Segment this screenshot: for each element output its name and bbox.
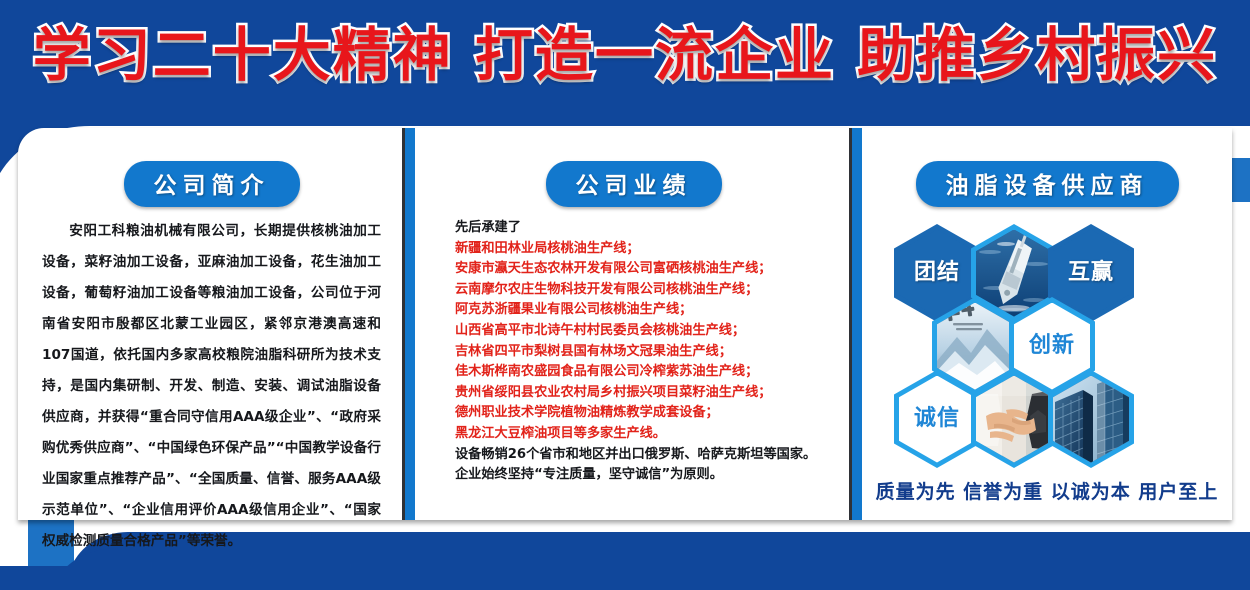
performance-project-line: 佳木斯桦南农盛园食品有限公司冷榨紫苏油生产线；	[455, 362, 832, 383]
skyscraper-photo	[1053, 376, 1129, 463]
performance-project-line: 山西省高平市北诗午村村民委员会核桃油生产线；	[455, 321, 832, 342]
header-banner: 学习二十大精神 打造一流企业 助推乡村振兴	[0, 0, 1250, 110]
aircraft-carrier-photo	[976, 230, 1052, 317]
performance-project-line: 新疆和田林业局核桃油生产线；	[455, 239, 832, 260]
performance-project-line: 贵州省绥阳县农业农村局乡村振兴项目菜籽油生产线；	[455, 383, 832, 404]
hexagon-label: 互赢	[1068, 262, 1114, 284]
hexagon-label: 团结	[914, 262, 960, 284]
hexagon-label: 创新	[1029, 335, 1075, 357]
panel-supplier: 油脂设备供应商 团结 互赢	[862, 128, 1232, 520]
badge-supplier: 油脂设备供应商	[916, 161, 1179, 207]
badge-wrap-profile: 公司简介	[40, 128, 383, 216]
badge-company-profile: 公司简介	[124, 161, 300, 207]
panel-company-profile: 公司简介 安阳工科粮油机械有限公司，长期提供核桃油加工设备，菜籽油加工设备，亚麻…	[18, 128, 405, 520]
badge-wrap-performance: 公司业绩	[435, 128, 832, 216]
performance-lead: 先后承建了	[455, 218, 832, 239]
hexagon-inner: 创新	[1014, 303, 1090, 390]
poster-main-title: 学习二十大精神 打造一流企业 助推乡村振兴	[33, 26, 1217, 84]
handshake-photo	[976, 376, 1052, 463]
panel-divider-left	[405, 128, 415, 520]
hexagon-inner	[976, 230, 1052, 317]
hexagon-inner	[1053, 376, 1129, 463]
hexagon-inner	[976, 376, 1052, 463]
success-mountain-photo	[937, 303, 1013, 390]
content-card: 公司简介 安阳工科粮油机械有限公司，长期提供核桃油加工设备，菜籽油加工设备，亚麻…	[18, 128, 1232, 520]
performance-project-line: 阿克苏浙疆果业有限公司核桃油生产线；	[455, 300, 832, 321]
performance-project-line: 黑龙江大豆榨油项目等多家生产线。	[455, 424, 832, 445]
performance-project-line: 安康市瀛天生态农林开发有限公司富硒核桃油生产线；	[455, 259, 832, 280]
hexagon-inner	[937, 303, 1013, 390]
performance-project-line: 云南摩尔农庄生物科技开发有限公司核桃油生产线；	[455, 280, 832, 301]
hexagon-label: 诚信	[914, 408, 960, 430]
performance-project-lines: 新疆和田林业局核桃油生产线；安康市瀛天生态农林开发有限公司富硒核桃油生产线；云南…	[455, 239, 832, 445]
performance-project-line: 德州职业技术学院植物油精炼教学成套设备；	[455, 403, 832, 424]
badge-wrap-supplier: 油脂设备供应商	[876, 128, 1218, 216]
company-profile-text: 安阳工科粮油机械有限公司，长期提供核桃油加工设备，菜籽油加工设备，亚麻油加工设备…	[40, 216, 383, 557]
panel-company-performance: 公司业绩 先后承建了 新疆和田林业局核桃油生产线；安康市瀛天生态农林开发有限公司…	[415, 128, 852, 520]
panel-divider-right	[852, 128, 862, 520]
hexagon-inner: 互赢	[1053, 230, 1129, 317]
hexagon-inner: 诚信	[899, 376, 975, 463]
supplier-tagline: 质量为先 信誉为重 以诚为本 用户至上	[862, 477, 1232, 504]
performance-list: 先后承建了 新疆和田林业局核桃油生产线；安康市瀛天生态农林开发有限公司富硒核桃油…	[435, 216, 832, 486]
performance-footer-line: 设备畅销26个省市和地区并出口俄罗斯、哈萨克斯坦等国家。	[455, 445, 832, 466]
performance-footer-lines: 设备畅销26个省市和地区并出口俄罗斯、哈萨克斯坦等国家。企业始终坚持“专注质量，…	[455, 445, 832, 486]
hexagon-inner: 团结	[899, 230, 975, 317]
poster-canvas: 学习二十大精神 打造一流企业 助推乡村振兴 公司简介 安阳工科粮油机械有限公司，…	[0, 0, 1250, 590]
performance-footer-line: 企业始终坚持“专注质量，坚守诚信”为原则。	[455, 465, 832, 486]
hexagon-cluster: 团结 互赢	[876, 220, 1218, 490]
performance-project-line: 吉林省四平市梨树县国有林场文冠果油生产线；	[455, 342, 832, 363]
badge-company-performance: 公司业绩	[546, 161, 722, 207]
